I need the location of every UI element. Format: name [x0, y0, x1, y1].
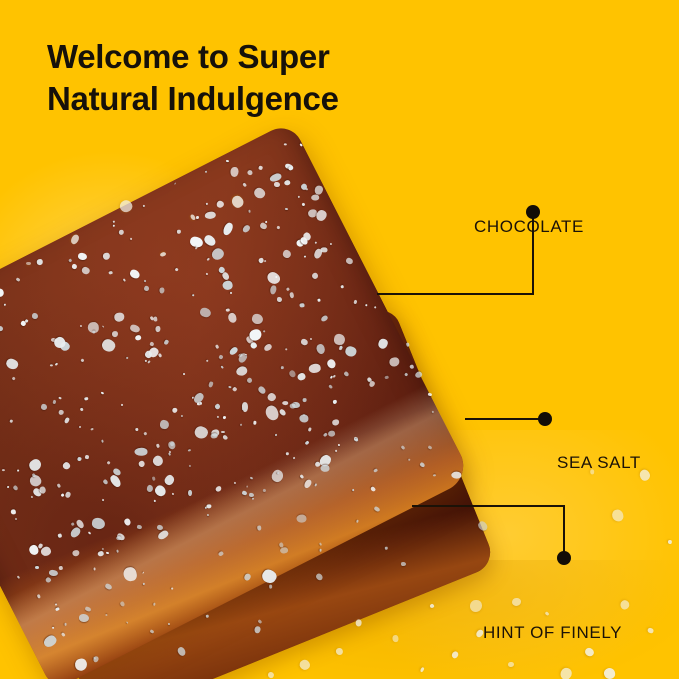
callout-sea-salt-leader-horizontal: [465, 418, 545, 420]
callout-almonds-leader-horizontal: [412, 505, 565, 507]
headline-line-2: Natural Indulgence: [47, 78, 477, 120]
callout-chocolate-label-line-1: CHOCOLATE: [474, 216, 584, 238]
salt-crumb: [336, 648, 343, 655]
headline-line-1: Welcome to Super: [47, 36, 477, 78]
page-title: Welcome to Super Natural Indulgence: [47, 36, 477, 120]
product-infographic: Welcome to Super Natural Indulgence CHOC…: [0, 0, 679, 679]
callout-chocolate-label: CHOCOLATE: [474, 172, 584, 282]
callout-sea-salt-label-line-1: SEA SALT: [557, 452, 641, 474]
salt-crumb: [470, 600, 482, 612]
callout-sea-salt-label: SEA SALT: [557, 408, 641, 518]
callout-almonds-label: HINT OF FINELY GROUND ALMONDS: [483, 578, 655, 679]
callout-almonds-label-line-1: HINT OF FINELY: [483, 622, 655, 644]
callout-almonds-dot: [557, 551, 571, 565]
callout-chocolate-leader-horizontal: [377, 293, 534, 295]
callout-sea-salt-dot: [538, 412, 552, 426]
